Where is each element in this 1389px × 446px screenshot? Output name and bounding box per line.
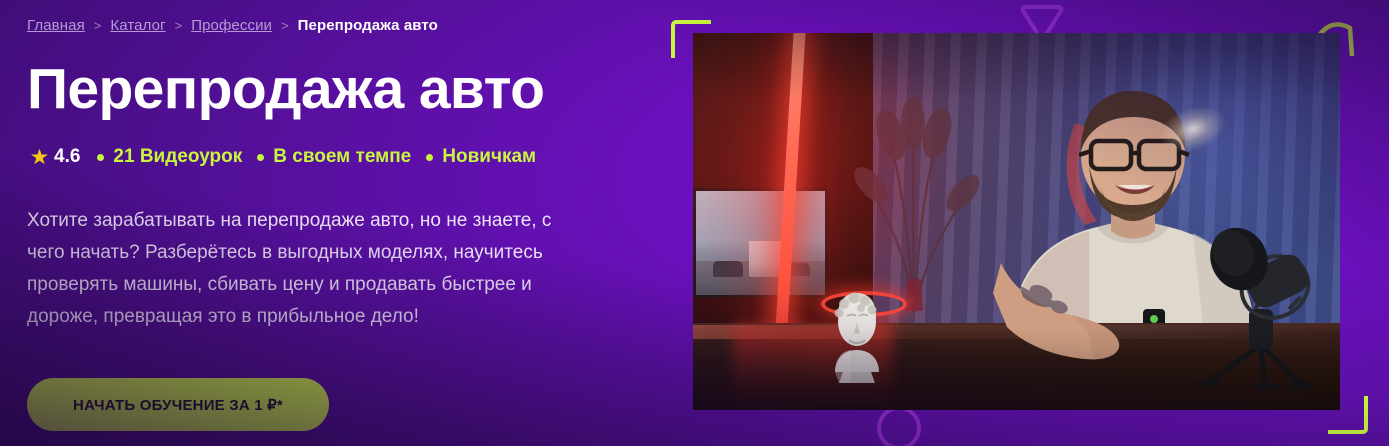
video-scene bbox=[693, 33, 1340, 410]
bullet-dot-icon bbox=[257, 154, 264, 161]
bullet-dot-icon bbox=[97, 154, 104, 161]
breadcrumb-separator: > bbox=[175, 19, 183, 32]
breadcrumb-item-current: Перепродажа авто bbox=[298, 18, 438, 33]
meta-item-pace: В своем темпе bbox=[257, 146, 411, 168]
meta-item-label: Новичкам bbox=[442, 146, 536, 168]
breadcrumb: Главная > Каталог > Профессии > Перепрод… bbox=[27, 18, 438, 33]
breadcrumb-separator: > bbox=[94, 19, 102, 32]
breadcrumb-item-catalog[interactable]: Каталог bbox=[110, 18, 165, 33]
microphone bbox=[1183, 223, 1340, 398]
breadcrumb-separator: > bbox=[281, 19, 289, 32]
hero-banner: Главная > Каталог > Профессии > Перепрод… bbox=[0, 0, 1389, 446]
meta-item-lessons: 21 Видеоурок bbox=[97, 146, 242, 168]
bullet-dot-icon bbox=[426, 154, 433, 161]
rating-group: 4.6 bbox=[31, 146, 80, 168]
meta-item-label: В своем темпе bbox=[273, 146, 411, 168]
david-bust-statue bbox=[821, 288, 893, 383]
breadcrumb-item-professions[interactable]: Профессии bbox=[191, 18, 272, 33]
circle-outline-icon bbox=[877, 406, 921, 446]
meta-item-level: Новичкам bbox=[426, 146, 536, 168]
hero-left-column: Главная > Каталог > Профессии > Перепрод… bbox=[27, 0, 647, 446]
page-title: Перепродажа авто bbox=[27, 60, 544, 119]
rating-value: 4.6 bbox=[54, 146, 80, 168]
start-course-button[interactable]: НАЧАТЬ ОБУЧЕНИЕ ЗА 1 ₽* bbox=[27, 378, 329, 431]
meta-item-label: 21 Видеоурок bbox=[113, 146, 242, 168]
breadcrumb-item-home[interactable]: Главная bbox=[27, 18, 85, 33]
course-video-thumbnail[interactable] bbox=[693, 33, 1340, 410]
star-icon bbox=[31, 149, 48, 166]
course-meta-row: 4.6 21 Видеоурок В своем темпе Новичкам bbox=[31, 146, 551, 168]
course-description: Хотите зарабатывать на перепродаже авто,… bbox=[27, 205, 557, 333]
